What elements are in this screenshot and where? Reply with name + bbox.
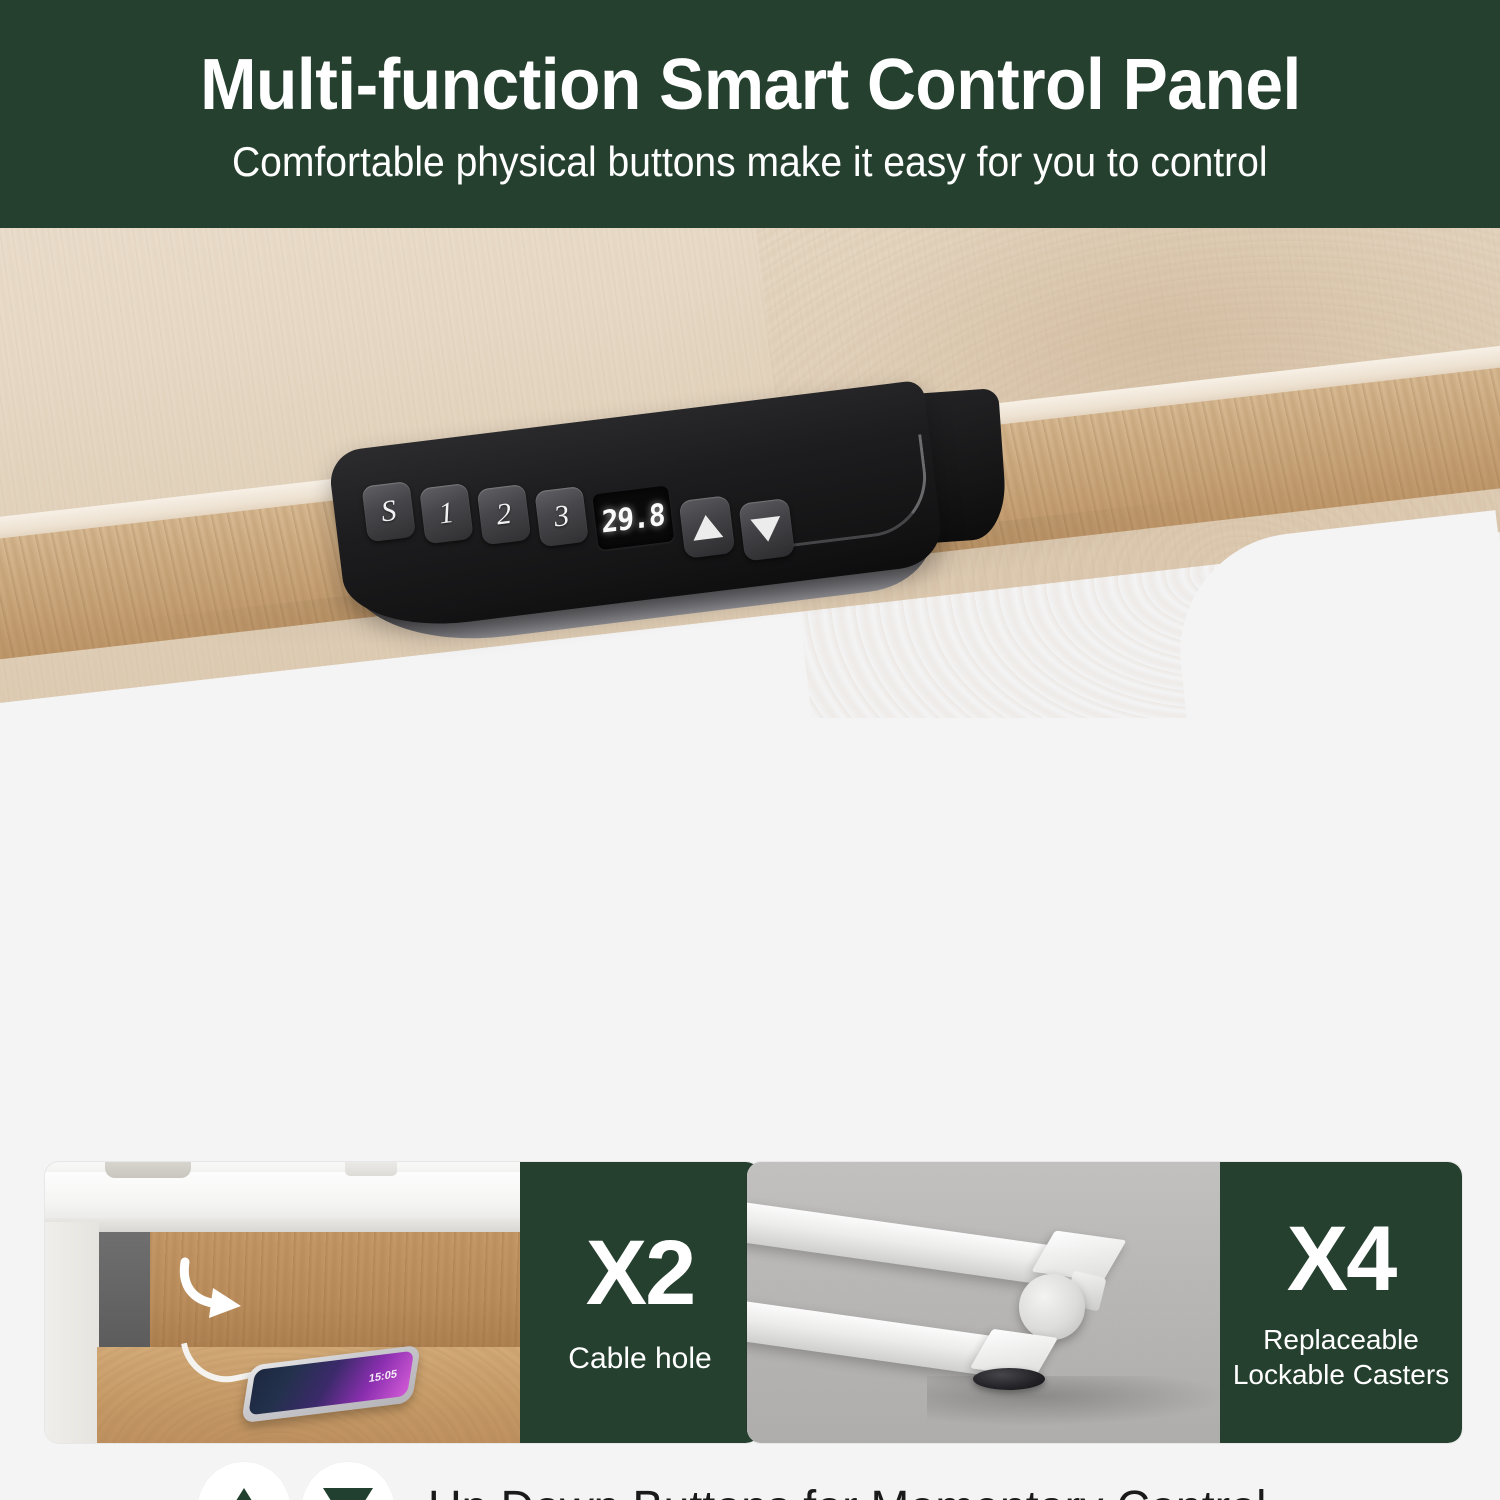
page-subtitle: Comfortable physical buttons make it eas…: [232, 139, 1268, 185]
phone-screen-text: 15:05: [368, 1368, 397, 1385]
desk-decor-object: [345, 1162, 397, 1176]
keypad-up-button[interactable]: [679, 495, 736, 559]
keypad-height-display: 29.8: [592, 485, 674, 550]
white-desk-edge: [45, 1218, 525, 1232]
casters-count: X4: [1287, 1213, 1396, 1305]
curved-arrow-icon: [175, 1254, 255, 1320]
feature-badges: [198, 1462, 394, 1500]
cable-hole-label: X2 Cable hole: [520, 1162, 760, 1443]
keypad-lock-button[interactable]: S: [361, 481, 415, 542]
leg-shadow: [927, 1376, 1227, 1426]
keypad-preset-3-button[interactable]: 3: [534, 486, 588, 547]
side-wall: [45, 1222, 99, 1443]
feature-list: Up Down Buttons for Momentary Control 1 …: [0, 720, 1500, 1110]
header-banner: Multi-function Smart Control Panel Comfo…: [0, 0, 1500, 228]
keypad-preset-1-button[interactable]: 1: [419, 483, 473, 544]
feature-label-up-down: Up Down Buttons for Momentary Control: [428, 1481, 1266, 1500]
keypad-preset-2-button[interactable]: 2: [477, 484, 531, 545]
casters-label: X4 Replaceable Lockable Casters: [1220, 1162, 1462, 1443]
hero-product-photo: S 1 2 3 29.8: [0, 228, 1500, 718]
badge-down-arrow: [302, 1462, 394, 1500]
product-feature-page: Multi-function Smart Control Panel Comfo…: [0, 0, 1500, 1500]
page-title: Multi-function Smart Control Panel: [200, 48, 1301, 123]
casters-caption: Replaceable Lockable Casters: [1233, 1323, 1449, 1391]
height-value: 29.8: [602, 496, 666, 540]
feature-row-up-down: Up Down Buttons for Momentary Control: [198, 1462, 1292, 1500]
leveling-glide: [973, 1368, 1045, 1390]
bottom-feature-cards: 15:05 X2 Cable hole: [0, 1162, 1500, 1447]
desk-decor-vase: [105, 1162, 191, 1178]
casters-photo: [747, 1162, 1287, 1443]
down-arrow-icon: [750, 516, 783, 543]
badge-up-arrow: [198, 1462, 290, 1500]
card-casters: X4 Replaceable Lockable Casters: [747, 1162, 1462, 1443]
cable-hole-caption: Cable hole: [568, 1341, 711, 1378]
up-arrow-icon: [691, 513, 724, 540]
down-arrow-icon: [323, 1488, 373, 1500]
keypad-down-button[interactable]: [738, 498, 795, 562]
cable-hole-count: X2: [586, 1227, 695, 1319]
grey-back-panel: [97, 1232, 155, 1347]
cable-hole-photo: 15:05: [45, 1162, 525, 1443]
up-arrow-icon: [219, 1488, 269, 1500]
card-cable-hole: 15:05 X2 Cable hole: [45, 1162, 760, 1443]
caster-wheel: [1019, 1274, 1085, 1340]
